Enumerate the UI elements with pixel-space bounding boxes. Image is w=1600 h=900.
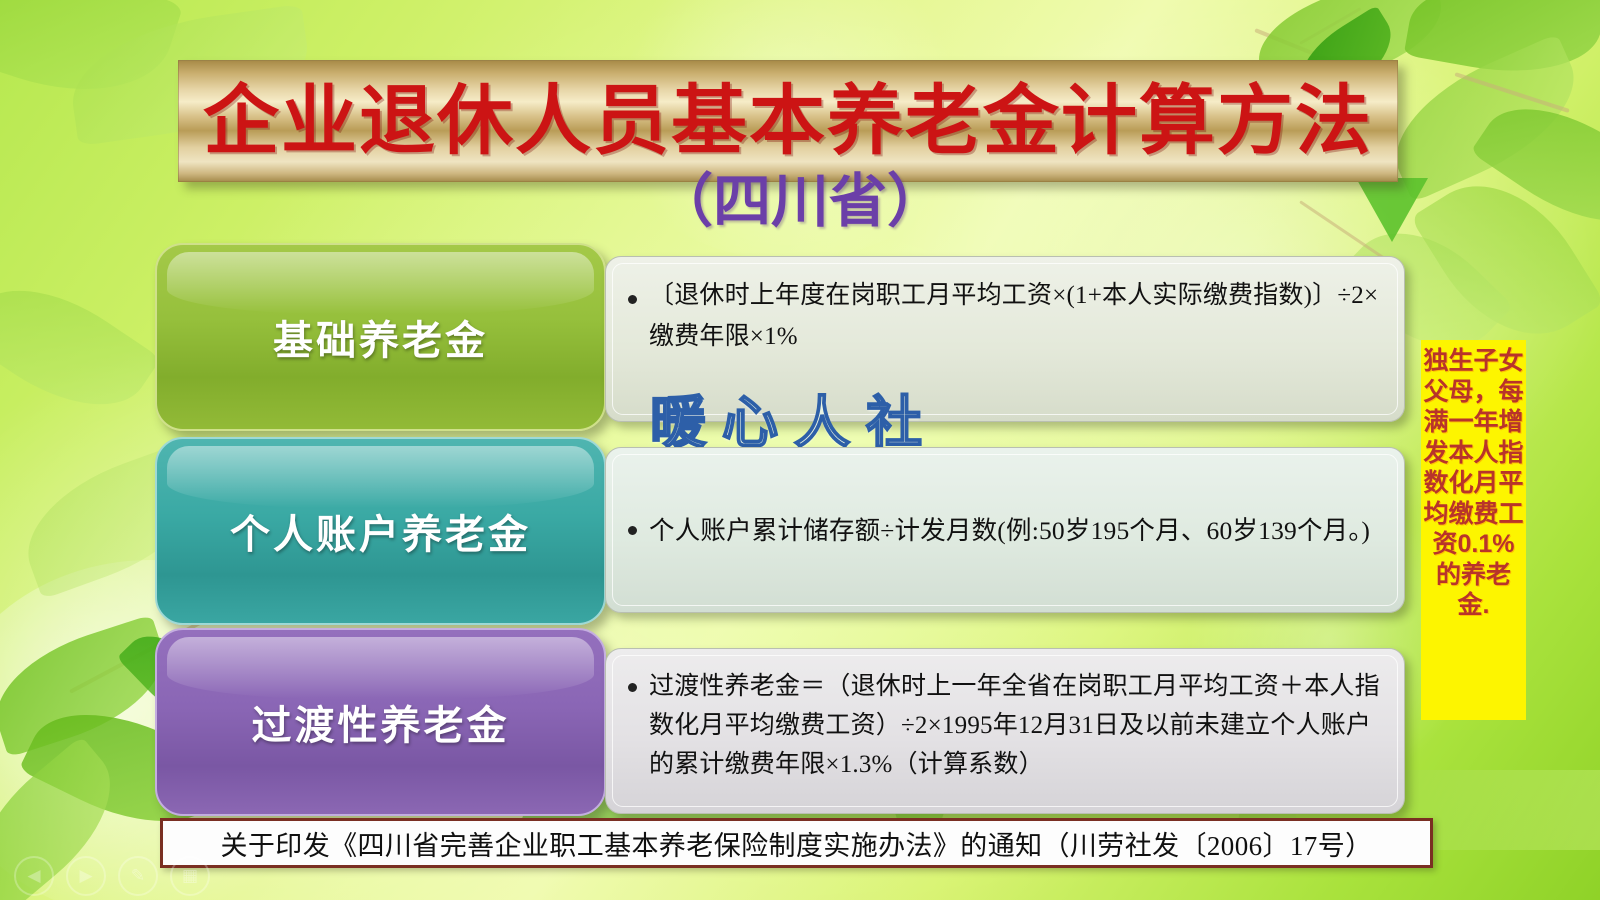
formula-panel-transitional-pension: 过渡性养老金＝（退休时上一年全省在岗职工月平均工资＋本人指数化月平均缴费工资）÷… [605,648,1405,814]
slideshow-toolbar[interactable]: ◀ ▶ ✎ ▦ [14,856,210,896]
category-label-text: 过渡性养老金 [252,693,510,751]
formula-panel-personal-account-pension: 个人账户累计储存额÷计发月数(例:50岁195个月、60岁139个月。) [605,447,1405,613]
category-label-personal-account-pension[interactable]: 个人账户养老金 [155,437,606,625]
category-label-text: 基础养老金 [273,308,488,366]
next-slide-button[interactable]: ▶ [66,856,106,896]
category-label-transitional-pension[interactable]: 过渡性养老金 [155,628,606,816]
gloss-highlight [167,252,594,314]
previous-slide-button[interactable]: ◀ [14,856,54,896]
formula-panel-basic-pension: 〔退休时上年度在岗职工月平均工资×(1+本人实际缴费指数)〕÷2×缴费年限×1% [605,256,1405,422]
gloss-highlight [167,446,594,508]
bullet-row: 〔退休时上年度在岗职工月平均工资×(1+本人实际缴费指数)〕÷2×缴费年限×1% [624,275,1382,403]
footer-source-box: 关于印发《四川省完善企业职工基本养老保险制度实施办法》的通知（川劳社发〔2006… [160,818,1433,868]
bullet-row: 个人账户累计储存额÷计发月数(例:50岁195个月、60岁139个月。) [624,466,1382,594]
category-label-basic-pension[interactable]: 基础养老金 [155,243,606,431]
slide-grid-button[interactable]: ▦ [170,856,210,896]
page-title: 企业退休人员基本养老金计算方法 [179,67,1397,177]
formula-text: 个人账户累计储存额÷计发月数(例:50岁195个月、60岁139个月。) [649,510,1382,551]
bullet-point-icon [628,526,637,535]
footer-source-text: 关于印发《四川省完善企业职工基本养老保险制度实施办法》的通知（川劳社发〔2006… [221,824,1373,863]
formula-text: 〔退休时上年度在岗职工月平均工资×(1+本人实际缴费指数)〕÷2×缴费年限×1% [649,275,1382,357]
presentation-slide: 企业退休人员基本养老金计算方法 （四川省） 基础养老金 〔退休时上年度在岗职工月… [0,0,1600,900]
title-banner: 企业退休人员基本养老金计算方法 [178,60,1398,182]
bullet-point-icon [628,683,637,692]
side-note-callout: 独生子女父母，每满一年增发本人指数化月平均缴费工资0.1%的养老金. [1421,340,1526,720]
formula-text: 过渡性养老金＝（退休时上一年全省在岗职工月平均工资＋本人指数化月平均缴费工资）÷… [649,667,1382,784]
page-subtitle: （四川省） [0,168,1600,236]
pen-tool-button[interactable]: ✎ [118,856,158,896]
category-label-text: 个人账户养老金 [230,502,531,560]
bullet-point-icon [628,295,637,304]
bullet-row: 过渡性养老金＝（退休时上一年全省在岗职工月平均工资＋本人指数化月平均缴费工资）÷… [624,667,1382,795]
gloss-highlight [167,637,594,699]
